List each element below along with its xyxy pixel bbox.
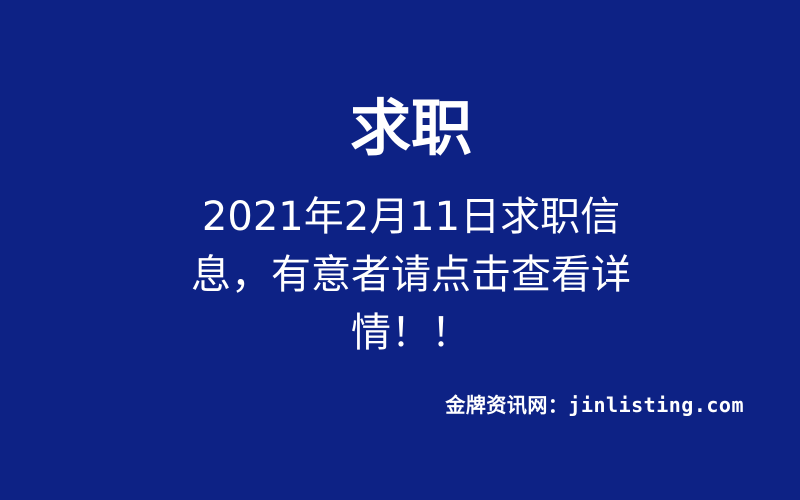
watermark-container: 金牌资讯网：jinlisting.com xyxy=(445,393,744,417)
poster-canvas: 求职 2021年2月11日求职信息，有意者请点击查看详情！！ 金牌资讯网：jin… xyxy=(0,0,800,500)
site-watermark: 金牌资讯网：jinlisting.com xyxy=(445,393,744,417)
poster-body-text: 2021年2月11日求职信息，有意者请点击查看详情！！ xyxy=(180,188,642,362)
poster-body-container: 2021年2月11日求职信息，有意者请点击查看详情！！ xyxy=(0,148,800,402)
